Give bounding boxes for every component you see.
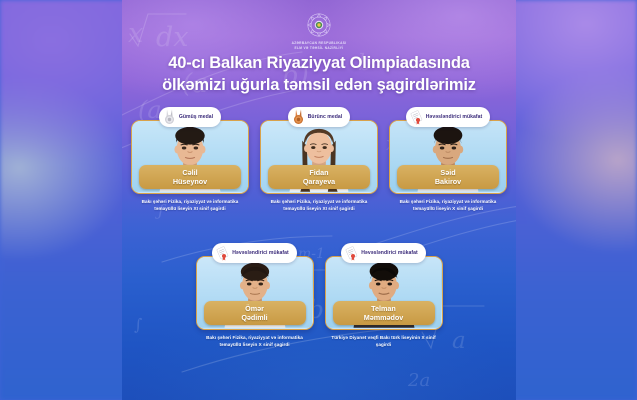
student-first-name: Telman — [337, 304, 431, 313]
diploma-icon — [216, 245, 229, 261]
student-first-name: Səid — [401, 168, 495, 177]
student-first-name: Ömər — [208, 304, 302, 313]
student-description: Bakı şəhəri Fizika, riyaziyyat və inform… — [196, 335, 314, 349]
student-photo: Fidan Qarayeva — [260, 120, 378, 194]
award-badge: Gümüş medal — [159, 107, 221, 127]
student-last-name: Bakirov — [401, 177, 495, 186]
student-card[interactable]: Gümüş medal — [131, 107, 249, 213]
student-description: Bakı şəhəri Fizika, riyaziyyat və inform… — [389, 199, 507, 213]
student-nameplate: Telman Məmmədov — [333, 301, 435, 325]
student-first-name: Cəlil — [143, 168, 237, 177]
award-badge: Həvəsləndirici mükafat — [406, 107, 491, 127]
title-line-2: ölkəmizi uğurla təmsil edən şagirdlərimi… — [129, 74, 509, 96]
student-last-name: Qədimli — [208, 313, 302, 322]
bronze-medal-icon — [292, 109, 305, 125]
ministry-emblem-icon — [302, 8, 336, 42]
award-badge-label: Həvəsləndirici mükafat — [232, 250, 289, 256]
ministry-name: AZƏRBAYCAN RESPUBLİKASI ELM VƏ TƏHSİL NA… — [219, 41, 419, 51]
student-description: Türkiyə Diyanət vəqfi Bakı türk liseyini… — [325, 335, 443, 349]
student-nameplate: Ömər Qədimli — [204, 301, 306, 325]
award-badge: Həvəsləndirici mükafat — [341, 243, 426, 263]
student-first-name: Fidan — [272, 168, 366, 177]
student-card[interactable]: Həvəsləndirici mükafat — [389, 107, 507, 213]
student-last-name: Məmmədov — [337, 313, 431, 322]
award-badge-label: Həvəsləndirici mükafat — [426, 114, 483, 120]
student-description: Bakı şəhəri Fizika, riyaziyyat və inform… — [260, 199, 378, 213]
student-card[interactable]: Həvəsləndirici mükafat — [196, 243, 314, 349]
award-badge-label: Gümüş medal — [179, 114, 213, 120]
student-photo: Səid Bakirov — [389, 120, 507, 194]
student-nameplate: Cəlil Hüseynov — [139, 165, 241, 189]
poster-image: x dx b b a (a b) (a b x m-1 2a ƒ Σ ∫ — [0, 0, 637, 400]
award-badge: Bürünc medal — [288, 107, 351, 127]
diploma-icon — [345, 245, 358, 261]
student-nameplate: Səid Bakirov — [397, 165, 499, 189]
student-photo: Telman Məmmədov — [325, 256, 443, 330]
student-photo: Cəlil Hüseynov — [131, 120, 249, 194]
student-last-name: Hüseynov — [143, 177, 237, 186]
students-row-1: Gümüş medal — [122, 107, 516, 213]
diploma-icon — [410, 109, 423, 125]
page-title: 40-cı Balkan Riyaziyyat Olimpiadasında ö… — [129, 52, 509, 96]
student-description: Bakı şəhəri Fizika, riyaziyyat və inform… — [131, 199, 249, 213]
award-badge-label: Bürünc medal — [308, 114, 343, 120]
silver-medal-icon — [163, 109, 176, 125]
poster-content-frame: x dx b b a (a b) (a b x m-1 2a ƒ Σ ∫ — [122, 0, 516, 400]
student-photo: Ömər Qədimli — [196, 256, 314, 330]
award-badge-label: Həvəsləndirici mükafat — [361, 250, 418, 256]
student-card[interactable]: Həvəsləndirici mükafat — [325, 243, 443, 349]
student-nameplate: Fidan Qarayeva — [268, 165, 370, 189]
award-badge: Həvəsləndirici mükafat — [212, 243, 297, 263]
students-row-2: Həvəsləndirici mükafat — [122, 243, 516, 349]
student-card[interactable]: Bürünc medal — [260, 107, 378, 213]
student-last-name: Qarayeva — [272, 177, 366, 186]
title-line-1: 40-cı Balkan Riyaziyyat Olimpiadasında — [168, 54, 469, 72]
